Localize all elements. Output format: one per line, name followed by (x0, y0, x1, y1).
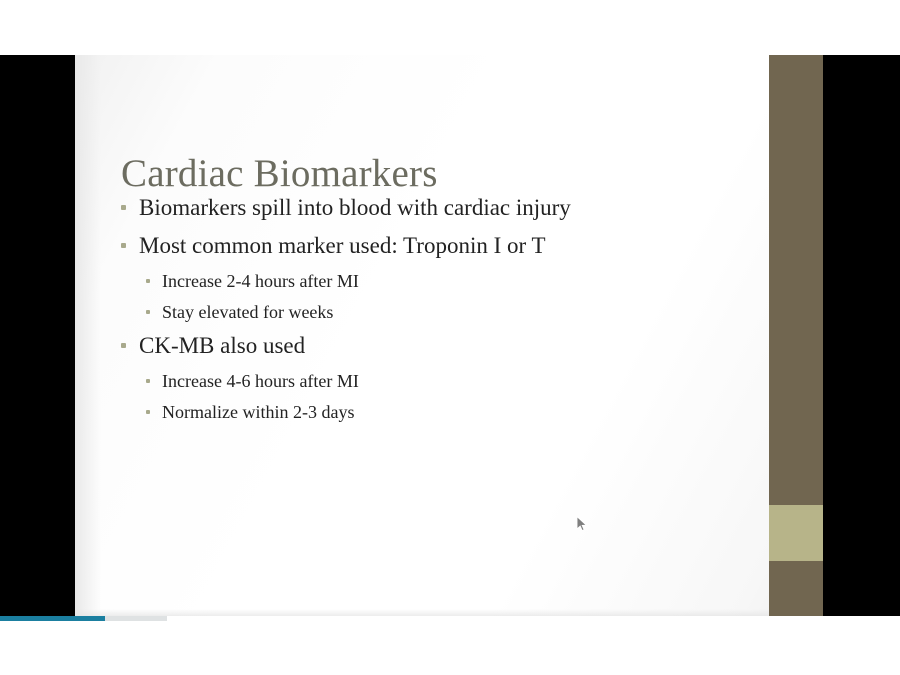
bullet-item-label: Normalize within 2-3 days (162, 397, 354, 427)
slide-decorative-accent-block (769, 505, 823, 561)
presentation-slide: Cardiac Biomarkers Biomarkers spill into… (75, 55, 823, 619)
bullet-point-icon (121, 243, 126, 248)
bullet-point-icon (146, 379, 150, 383)
bullet-item-label: Most common marker used: Troponin I or T (139, 228, 546, 264)
bullet-item-label: Increase 4-6 hours after MI (162, 366, 359, 396)
bullet-item-level-2: Increase 4-6 hours after MI (146, 366, 761, 396)
video-player[interactable]: Cardiac Biomarkers Biomarkers spill into… (0, 0, 900, 675)
bullet-item-level-1: Biomarkers spill into blood with cardiac… (121, 190, 761, 226)
bullet-item-level-1: Most common marker used: Troponin I or T (121, 228, 761, 264)
bullet-item-label: CK-MB also used (139, 328, 305, 364)
bullet-point-icon (121, 343, 126, 348)
page-background-below-player (0, 621, 900, 675)
bullet-point-icon (146, 279, 150, 283)
bullet-item-level-2: Increase 2-4 hours after MI (146, 266, 761, 296)
bullet-item-label: Biomarkers spill into blood with cardiac… (139, 190, 571, 226)
bullet-point-icon (121, 205, 126, 210)
bullet-point-icon (146, 310, 150, 314)
slide-bullet-list: Biomarkers spill into blood with cardiac… (121, 190, 761, 428)
bullet-item-label: Increase 2-4 hours after MI (162, 266, 359, 296)
video-viewport[interactable]: Cardiac Biomarkers Biomarkers spill into… (0, 55, 900, 619)
bullet-item-level-2: Normalize within 2-3 days (146, 397, 761, 427)
bullet-item-level-2: Stay elevated for weeks (146, 297, 761, 327)
bullet-item-label: Stay elevated for weeks (162, 297, 333, 327)
bullet-item-level-1: CK-MB also used (121, 328, 761, 364)
bullet-point-icon (146, 410, 150, 414)
slide-left-edge-shading (75, 55, 101, 619)
